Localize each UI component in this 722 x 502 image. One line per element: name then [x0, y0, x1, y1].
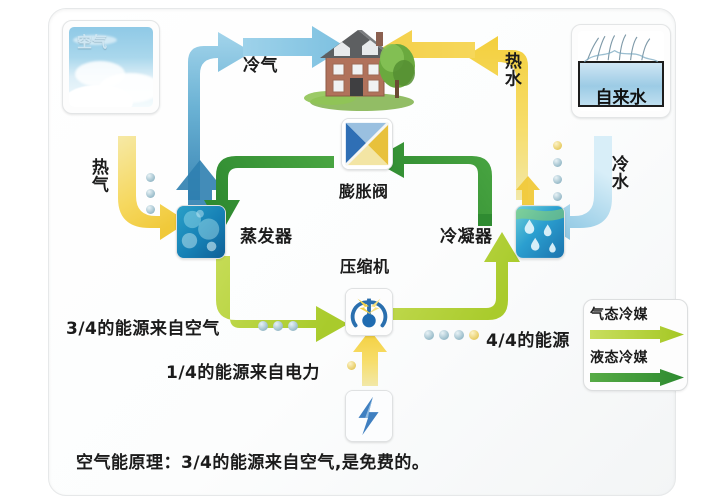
total-energy-label: 4/4的能源 — [486, 326, 570, 351]
evaporator-icon — [176, 205, 226, 259]
tap-water-photo: 自来水 — [571, 24, 671, 118]
cool-air-label: 冷气 — [243, 51, 278, 76]
diagram-root: 空气 自来水 — [0, 0, 722, 502]
expansion-valve-icon — [341, 118, 393, 170]
tap-water-photo-label: 自来水 — [578, 83, 664, 108]
evaporator-label: 蒸发器 — [240, 222, 293, 247]
legend-item-liquid: 液态冷媒 — [590, 347, 684, 386]
legend-item-gas-label: 气态冷媒 — [590, 304, 684, 324]
house-photo — [300, 18, 420, 110]
condenser-icon — [515, 205, 565, 259]
electricity-icon — [345, 390, 393, 442]
legend-liquid-arrow-icon — [590, 369, 684, 386]
cold-water-label: 冷水 — [608, 155, 626, 190]
legend-item-liquid-label: 液态冷媒 — [590, 347, 684, 367]
hot-water-label: 热水 — [501, 52, 519, 87]
legend: 气态冷媒 液态冷媒 — [583, 299, 688, 391]
legend-item-gas: 气态冷媒 — [590, 304, 684, 343]
expansion-valve-label: 膨胀阀 — [339, 178, 389, 202]
legend-gas-arrow-icon — [590, 326, 684, 343]
air-photo: 空气 — [62, 20, 160, 114]
energy-from-electricity-label: 1/4的能源来自电力 — [166, 358, 320, 383]
air-photo-label: 空气 — [77, 31, 107, 52]
condenser-label: 冷凝器 — [440, 222, 493, 247]
hot-air-label: 热气 — [88, 158, 106, 193]
caption: 空气能原理：3/4的能源来自空气,是免费的。 — [76, 448, 429, 473]
energy-from-air-label: 3/4的能源来自空气 — [66, 314, 220, 339]
compressor-label: 压缩机 — [340, 253, 390, 277]
compressor-icon — [345, 288, 393, 336]
electricity-arrow — [353, 330, 387, 386]
